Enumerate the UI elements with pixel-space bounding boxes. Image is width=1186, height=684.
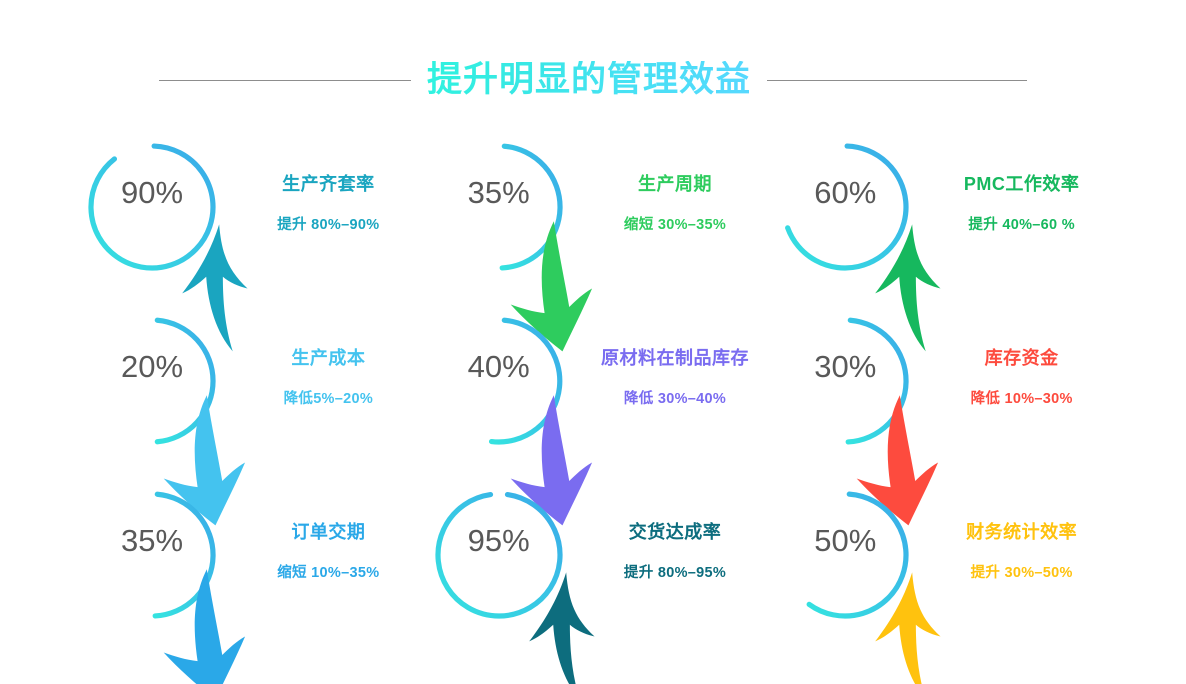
title-rule-right [767,80,1027,81]
metric-card: 90%生产齐套率提升 80%–90% [78,120,425,294]
gauge-value: 95% [468,525,530,556]
metric-subtitle: 降低 30%–40% [624,391,726,408]
metric-title: 库存资金 [985,348,1059,370]
arrow-down-icon [486,212,512,238]
gauge-value: 30% [814,351,876,382]
metric-card: 35%生产周期缩短 30%–35% [425,120,772,294]
metric-title: 财务统计效率 [966,522,1077,544]
metric-title: 生产成本 [291,348,365,370]
gauge-center: 35% [78,481,226,629]
metric-subtitle: 提升 40%–60 % [968,217,1074,234]
arrow-up-icon [832,212,858,238]
gauge-ring: 35% [425,133,573,281]
gauge-value: 40% [468,351,530,382]
metric-subtitle: 提升 80%–90% [277,217,379,234]
gauge-value: 90% [121,177,183,208]
gauge-center: 50% [771,481,919,629]
metric-title: 订单交期 [291,522,365,544]
page-title: 提升明显的管理效益 [427,61,751,100]
arrow-up-icon [139,212,165,238]
gauge-ring: 30% [771,307,919,455]
gauge-value: 20% [121,351,183,382]
gauge-value: 35% [468,177,530,208]
arrow-down-icon [832,386,858,412]
gauge-ring: 20% [78,307,226,455]
gauge-center: 30% [771,307,919,455]
metric-subtitle: 缩短 10%–35% [277,565,379,582]
gauge-ring: 90% [78,133,226,281]
metric-subtitle: 缩短 30%–35% [624,217,726,234]
gauge-center: 20% [78,307,226,455]
arrow-down-icon [486,386,512,412]
metric-subtitle: 提升 80%–95% [624,565,726,582]
gauge-ring: 95% [425,481,573,629]
gauge-ring: 60% [771,133,919,281]
metric-subtitle: 降低 10%–30% [971,391,1073,408]
gauge-center: 35% [425,133,573,281]
arrow-up-icon [486,560,512,586]
gauge-center: 40% [425,307,573,455]
metric-title: 生产周期 [638,174,712,196]
gauge-value: 35% [121,525,183,556]
gauge-value: 50% [814,525,876,556]
arrow-down-icon [139,386,165,412]
gauge-ring: 40% [425,307,573,455]
gauge-ring: 35% [78,481,226,629]
metric-subtitle: 提升 30%–50% [971,565,1073,582]
metric-subtitle: 降低5%–20% [284,391,373,408]
metric-title: 交货达成率 [629,522,722,544]
title-rule-left [159,80,411,81]
gauge-center: 95% [425,481,573,629]
slide-header: 提升明显的管理效益 [0,52,1186,108]
arrow-up-icon [832,560,858,586]
gauge-center: 90% [78,133,226,281]
metric-title: PMC工作效率 [964,174,1080,196]
metrics-grid: 90%生产齐套率提升 80%–90%35%生产周期缩短 30%–35%60%PM… [78,120,1118,660]
gauge-ring: 50% [771,481,919,629]
metric-title: 生产齐套率 [282,174,375,196]
slide-root: 提升明显的管理效益 90%生产齐套率提升 80%–90%35%生产周期缩短 30… [0,0,1186,684]
arrow-down-icon [139,560,165,586]
metric-card: 60%PMC工作效率提升 40%–60 % [771,120,1118,294]
gauge-value: 60% [814,177,876,208]
gauge-center: 60% [771,133,919,281]
